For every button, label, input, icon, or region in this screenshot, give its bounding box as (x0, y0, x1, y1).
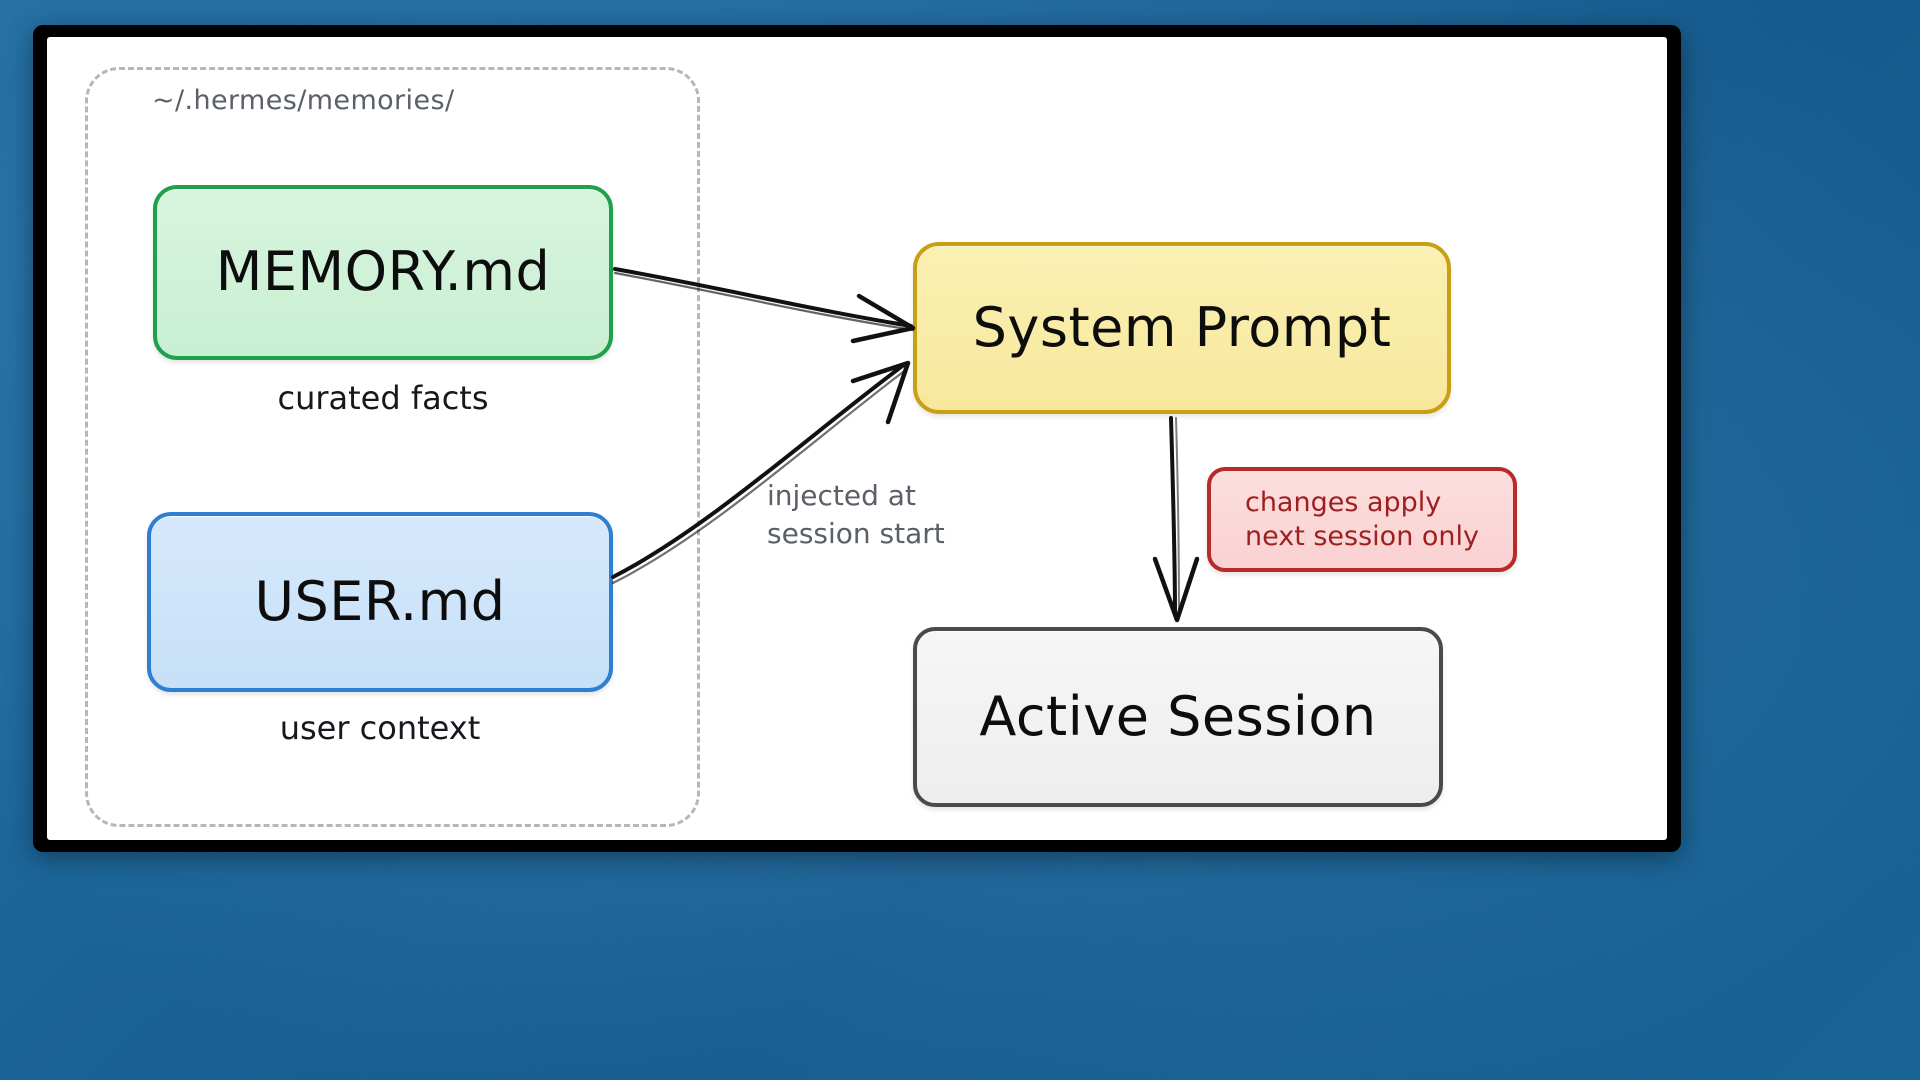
caption-curated-facts: curated facts (153, 379, 613, 417)
node-system-prompt[interactable]: System Prompt (913, 242, 1451, 414)
node-memory-md[interactable]: MEMORY.md (153, 185, 613, 360)
note-changes-apply-next-session: changes apply next session only (1207, 467, 1517, 572)
node-active-session-label: Active Session (979, 686, 1376, 748)
diagram-frame: ~/.hermes/memories/ MEMORY.md curated fa… (33, 25, 1681, 852)
arrow-system-prompt-to-active-session (1155, 418, 1197, 620)
node-user-md-label: USER.md (254, 571, 505, 633)
diagram-canvas: ~/.hermes/memories/ MEMORY.md curated fa… (47, 37, 1667, 840)
note-changes-apply-text: changes apply next session only (1245, 486, 1479, 554)
memories-path-label: ~/.hermes/memories/ (152, 85, 454, 116)
node-memory-md-label: MEMORY.md (216, 241, 550, 303)
caption-user-context: user context (147, 709, 613, 747)
node-active-session[interactable]: Active Session (913, 627, 1443, 807)
node-user-md[interactable]: USER.md (147, 512, 613, 692)
edge-label-injected-at-session-start: injected at session start (767, 477, 1027, 553)
node-system-prompt-label: System Prompt (973, 297, 1392, 359)
